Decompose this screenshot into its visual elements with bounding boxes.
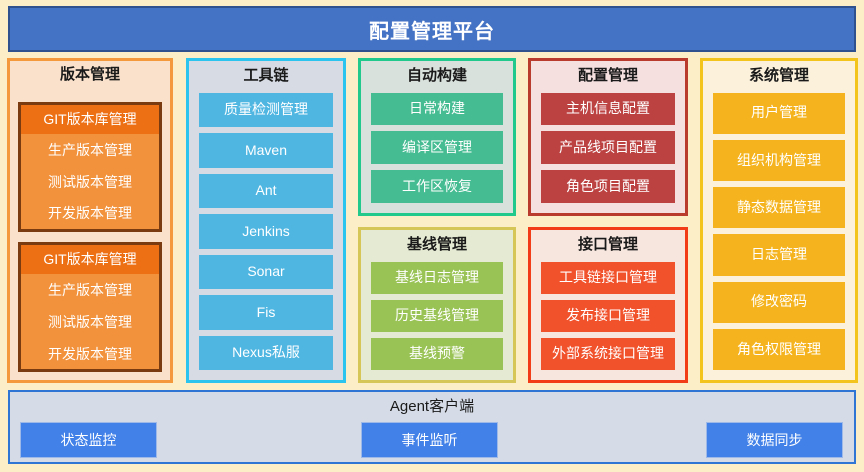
auto-build-items: 日常构建 编译区管理 工作区恢复 — [371, 93, 503, 204]
panel-title-toolchain: 工具链 — [199, 68, 333, 85]
item-test-version-1[interactable]: 测试版本管理 — [21, 168, 159, 198]
interface-management-items: 工具链接口管理 发布接口管理 外部系统接口管理 — [541, 262, 675, 371]
item-prod-version-2[interactable]: 生产版本管理 — [21, 276, 159, 306]
panel-title-baseline: 基线管理 — [371, 237, 503, 254]
item-log-management[interactable]: 日志管理 — [713, 234, 845, 275]
panel-version-management: 版本管理 GIT版本库管理 生产版本管理 测试版本管理 开发版本管理 GIT版本… — [7, 58, 173, 383]
item-user-management[interactable]: 用户管理 — [713, 93, 845, 134]
baseline-items: 基线日志管理 历史基线管理 基线预警 — [371, 262, 503, 371]
panel-title-auto-build: 自动构建 — [371, 68, 503, 85]
item-test-version-2[interactable]: 测试版本管理 — [21, 308, 159, 338]
item-sonar[interactable]: Sonar — [199, 255, 333, 290]
item-role-project-config[interactable]: 角色项目配置 — [541, 170, 675, 203]
agent-client-title: Agent客户端 — [10, 392, 854, 416]
agent-client-buttons: 状态监控 事件监听 数据同步 — [10, 422, 854, 458]
panel-title-interface-management: 接口管理 — [541, 237, 675, 254]
item-host-info-config[interactable]: 主机信息配置 — [541, 93, 675, 126]
item-release-interface[interactable]: 发布接口管理 — [541, 300, 675, 332]
item-nexus[interactable]: Nexus私服 — [199, 336, 333, 371]
item-org-management[interactable]: 组织机构管理 — [713, 140, 845, 181]
item-baseline-alert[interactable]: 基线预警 — [371, 338, 503, 370]
item-compile-area[interactable]: 编译区管理 — [371, 131, 503, 164]
item-prod-version-1[interactable]: 生产版本管理 — [21, 136, 159, 166]
item-ant[interactable]: Ant — [199, 174, 333, 209]
panel-auto-build: 自动构建 日常构建 编译区管理 工作区恢复 — [358, 58, 516, 216]
panel-title-version-management: 版本管理 — [18, 67, 162, 84]
item-jenkins[interactable]: Jenkins — [199, 214, 333, 249]
item-fis[interactable]: Fis — [199, 295, 333, 330]
agent-client-bar: Agent客户端 状态监控 事件监听 数据同步 — [8, 390, 856, 464]
item-maven[interactable]: Maven — [199, 133, 333, 168]
column-config-interface: 配置管理 主机信息配置 产品线项目配置 角色项目配置 接口管理 工具链接口管理 … — [522, 58, 694, 383]
columns-container: 版本管理 GIT版本库管理 生产版本管理 测试版本管理 开发版本管理 GIT版本… — [0, 58, 864, 383]
panel-title-config-management: 配置管理 — [541, 68, 675, 85]
page-title: 配置管理平台 — [8, 6, 856, 52]
toolchain-items: 质量检测管理 Maven Ant Jenkins Sonar Fis Nexus… — [199, 93, 333, 371]
column-build-baseline: 自动构建 日常构建 编译区管理 工作区恢复 基线管理 基线日志管理 历史基线管理… — [352, 58, 522, 383]
panel-interface-management: 接口管理 工具链接口管理 发布接口管理 外部系统接口管理 — [528, 227, 688, 383]
git-repo-group-2: GIT版本库管理 生产版本管理 测试版本管理 开发版本管理 — [18, 242, 162, 372]
panel-title-system-management: 系统管理 — [713, 68, 845, 85]
data-sync-button[interactable]: 数据同步 — [706, 422, 843, 458]
item-git-repo-1[interactable]: GIT版本库管理 — [21, 105, 159, 135]
item-daily-build[interactable]: 日常构建 — [371, 93, 503, 126]
item-quality-check[interactable]: 质量检测管理 — [199, 93, 333, 128]
item-dev-version-2[interactable]: 开发版本管理 — [21, 339, 159, 369]
item-change-password[interactable]: 修改密码 — [713, 282, 845, 323]
panel-toolchain: 工具链 质量检测管理 Maven Ant Jenkins Sonar Fis N… — [186, 58, 346, 383]
item-product-line-config[interactable]: 产品线项目配置 — [541, 131, 675, 164]
panel-baseline: 基线管理 基线日志管理 历史基线管理 基线预警 — [358, 227, 516, 383]
item-baseline-log[interactable]: 基线日志管理 — [371, 262, 503, 294]
system-management-items: 用户管理 组织机构管理 静态数据管理 日志管理 修改密码 角色权限管理 — [713, 93, 845, 371]
item-toolchain-interface[interactable]: 工具链接口管理 — [541, 262, 675, 294]
panel-system-management: 系统管理 用户管理 组织机构管理 静态数据管理 日志管理 修改密码 角色权限管理 — [700, 58, 858, 383]
item-dev-version-1[interactable]: 开发版本管理 — [21, 199, 159, 229]
item-workspace-restore[interactable]: 工作区恢复 — [371, 170, 503, 203]
panel-config-management: 配置管理 主机信息配置 产品线项目配置 角色项目配置 — [528, 58, 688, 216]
status-monitor-button[interactable]: 状态监控 — [20, 422, 157, 458]
config-management-items: 主机信息配置 产品线项目配置 角色项目配置 — [541, 93, 675, 204]
event-listener-button[interactable]: 事件监听 — [361, 422, 498, 458]
git-repo-group-1: GIT版本库管理 生产版本管理 测试版本管理 开发版本管理 — [18, 102, 162, 232]
item-static-data-management[interactable]: 静态数据管理 — [713, 187, 845, 228]
item-baseline-history[interactable]: 历史基线管理 — [371, 300, 503, 332]
column-system-management: 系统管理 用户管理 组织机构管理 静态数据管理 日志管理 修改密码 角色权限管理 — [694, 58, 864, 383]
item-role-permission-management[interactable]: 角色权限管理 — [713, 329, 845, 370]
item-git-repo-2[interactable]: GIT版本库管理 — [21, 245, 159, 275]
item-external-system-interface[interactable]: 外部系统接口管理 — [541, 338, 675, 370]
column-toolchain: 工具链 质量检测管理 Maven Ant Jenkins Sonar Fis N… — [180, 58, 352, 383]
column-version-management: 版本管理 GIT版本库管理 生产版本管理 测试版本管理 开发版本管理 GIT版本… — [0, 58, 180, 383]
